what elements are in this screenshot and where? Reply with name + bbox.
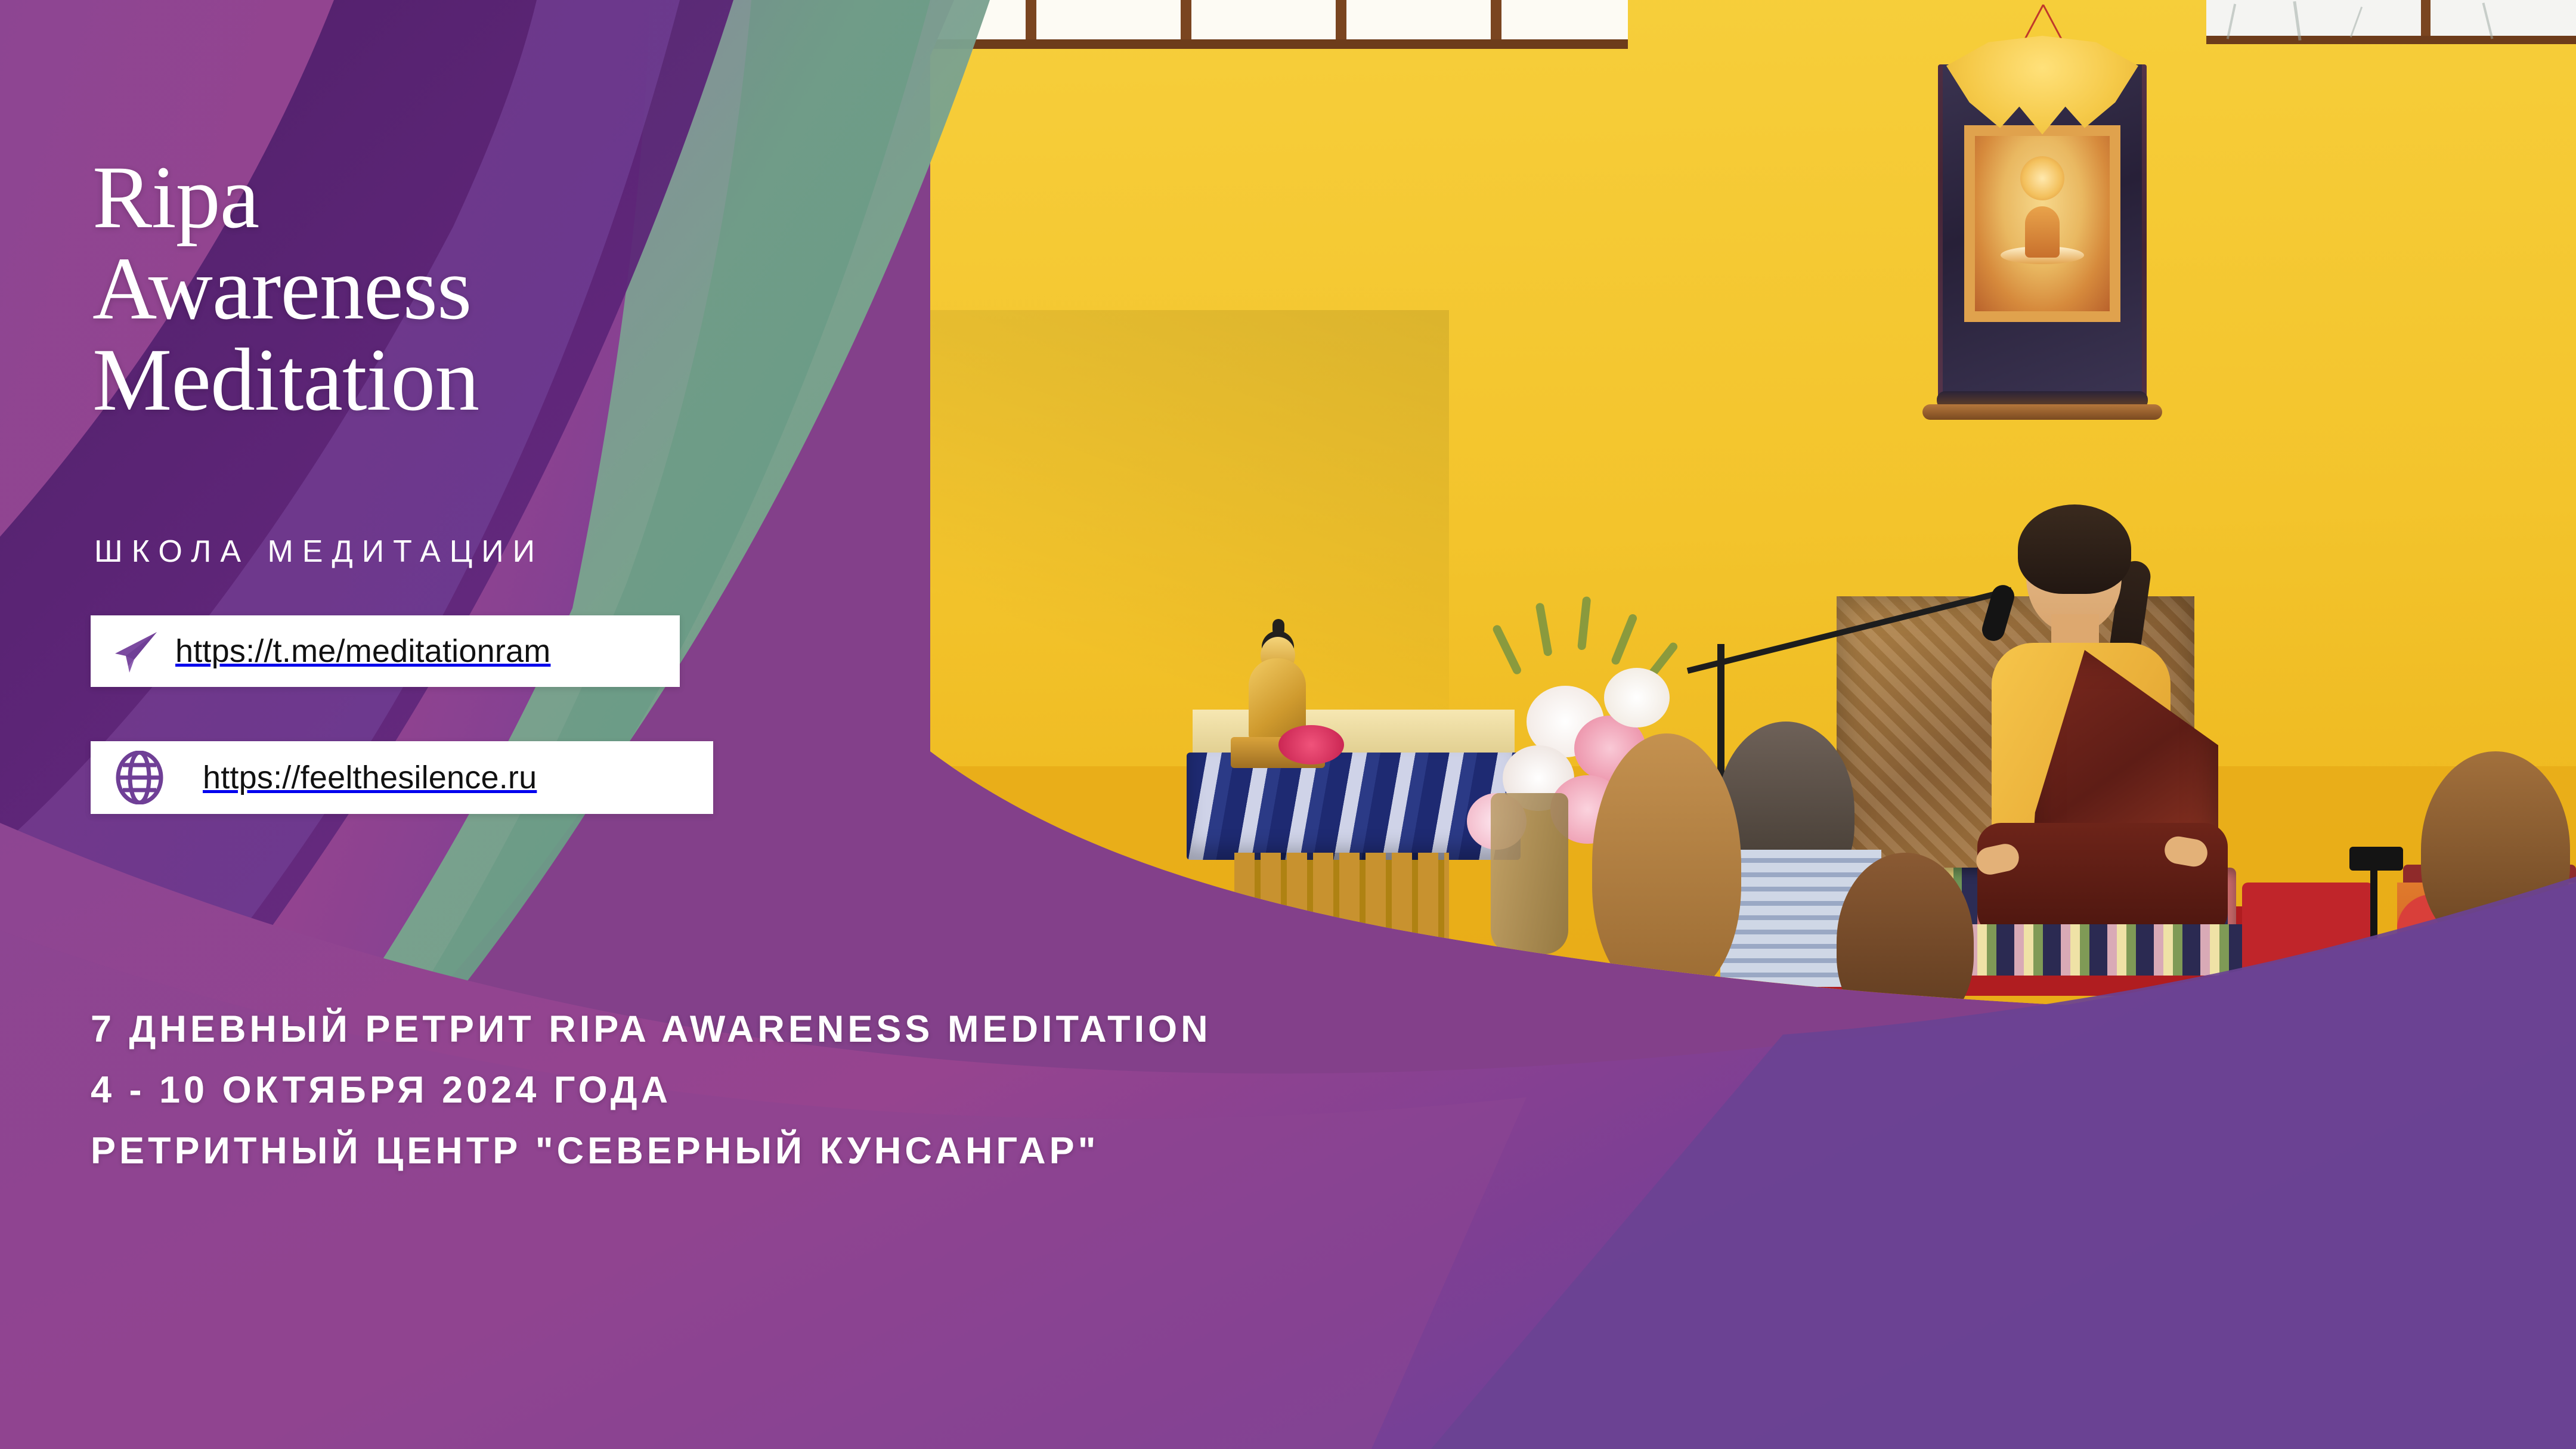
telegram-paper-plane-icon — [107, 628, 165, 674]
poster-canvas: Ripa Awareness Meditation ШКОЛА МЕДИТАЦИ… — [0, 0, 2576, 1449]
page-title: Ripa Awareness Meditation — [92, 152, 479, 426]
title-line-2: Awareness — [92, 243, 479, 335]
website-url: https://feelthesilence.ru — [203, 759, 537, 796]
footer-line-venue: РЕТРИТНЫЙ ЦЕНТР "СЕВЕРНЫЙ КУНСАНГАР" — [91, 1120, 1212, 1181]
globe-icon — [111, 754, 168, 801]
footer-details: 7 ДНЕВНЫЙ РЕТРИТ RIPA AWARENESS MEDITATI… — [91, 999, 1212, 1181]
website-link-box[interactable]: https://feelthesilence.ru — [91, 741, 713, 814]
title-line-3: Meditation — [92, 335, 479, 426]
footer-line-retreat: 7 ДНЕВНЫЙ РЕТРИТ RIPA AWARENESS MEDITATI… — [91, 999, 1212, 1060]
footer-line-dates: 4 - 10 ОКТЯБРЯ 2024 ГОДА — [91, 1060, 1212, 1120]
subtitle: ШКОЛА МЕДИТАЦИИ — [94, 534, 544, 569]
telegram-link-box[interactable]: https://t.me/meditationram — [91, 615, 680, 687]
title-line-1: Ripa — [92, 152, 479, 243]
telegram-url: https://t.me/meditationram — [175, 633, 550, 670]
